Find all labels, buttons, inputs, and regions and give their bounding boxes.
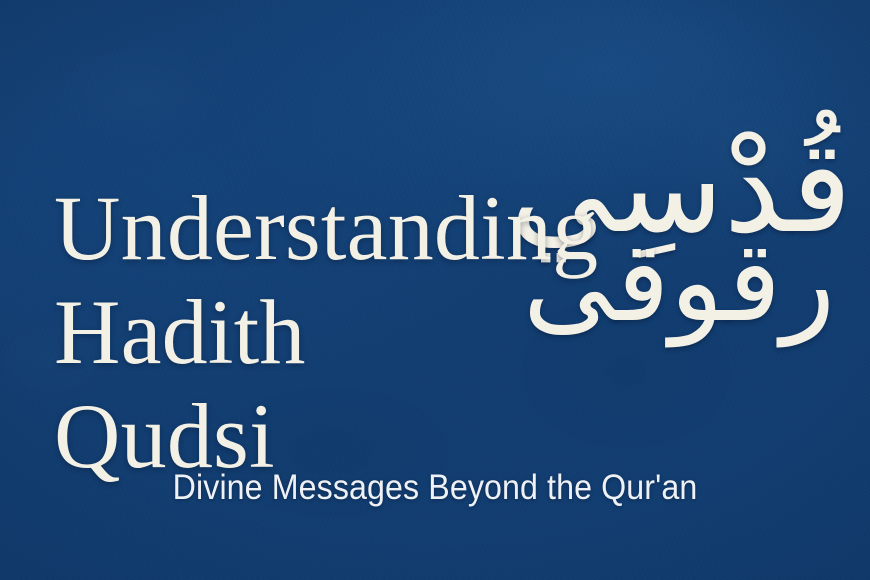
page-title: Understanding Hadith Qudsi [54, 176, 598, 489]
poster-canvas: قُدْسِي رقوقى Understanding Hadith Qudsi… [0, 0, 870, 580]
title-line-1: Understanding [54, 176, 598, 280]
title-line-2: Hadith [54, 280, 598, 384]
subtitle: Divine Messages Beyond the Qur'an [35, 468, 835, 508]
